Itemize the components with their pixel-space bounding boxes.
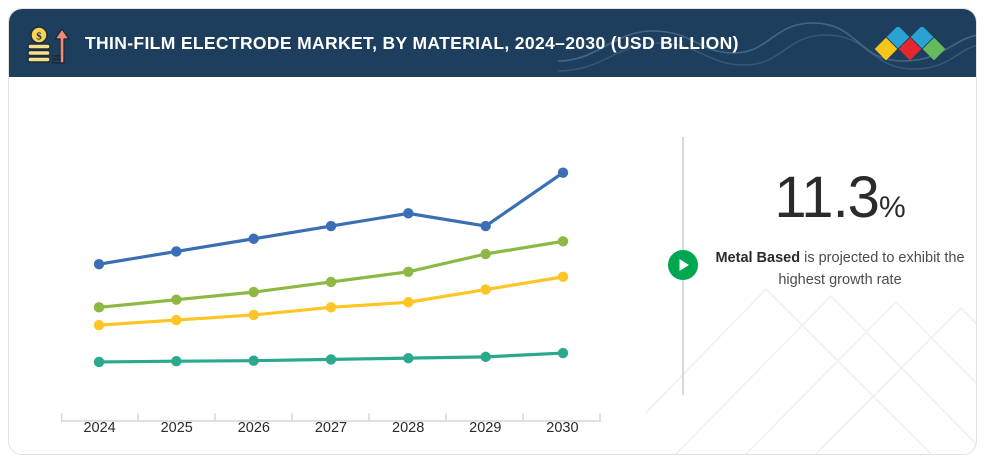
insight-panel: 11.3% Metal Based is projected to exhibi… [711,169,969,292]
plot-area [61,119,601,389]
data-point[interactable] [326,302,336,312]
data-point[interactable] [558,348,568,358]
data-point[interactable] [94,320,104,330]
growth-rate-number: 11.3 [774,165,879,230]
data-point[interactable] [480,249,490,259]
data-point[interactable] [248,355,258,365]
growth-rate-value: 11.3% [711,169,969,227]
data-point[interactable] [480,352,490,362]
coin-stack-growth-arrow-icon: $ [26,25,70,65]
diamond-cluster-logo [874,27,956,63]
data-point[interactable] [171,356,181,366]
play-triangle-icon [668,250,698,280]
svg-text:$: $ [36,31,42,43]
line-chart: 2024 2025 2026 2027 2028 2029 2030 Metal… [9,77,657,455]
data-point[interactable] [248,234,258,244]
data-point[interactable] [403,353,413,363]
data-point[interactable] [171,315,181,325]
data-point[interactable] [171,295,181,305]
x-axis-labels: 2024 2025 2026 2027 2028 2029 2030 [61,420,601,446]
x-tick-label: 2027 [292,420,369,446]
data-point[interactable] [326,354,336,364]
x-tick-label: 2026 [215,420,292,446]
insight-highlight: Metal Based [715,250,800,266]
x-tick-label: 2028 [370,420,447,446]
chart-card: $ THIN-FILM ELECTRODE MARKET, BY MATERIA… [8,8,977,455]
data-point[interactable] [248,287,258,297]
insight-caption: Metal Based is projected to exhibit the … [711,247,969,292]
data-point[interactable] [171,246,181,256]
data-point[interactable] [94,302,104,312]
x-tick-label: 2025 [138,420,215,446]
data-point[interactable] [480,284,490,294]
data-point[interactable] [558,168,568,178]
data-point[interactable] [480,221,490,231]
data-point[interactable] [403,297,413,307]
x-tick-label: 2024 [61,420,138,446]
card-header: $ THIN-FILM ELECTRODE MARKET, BY MATERIA… [9,9,977,77]
series-layer [61,119,601,389]
page-title: THIN-FILM ELECTRODE MARKET, BY MATERIAL,… [85,9,739,77]
data-point[interactable] [248,310,258,320]
percent-symbol: % [879,191,906,224]
insight-caption-rest: is projected to exhibit the highest grow… [778,250,964,288]
data-point[interactable] [403,267,413,277]
data-point[interactable] [326,277,336,287]
data-point[interactable] [403,208,413,218]
data-point[interactable] [94,259,104,269]
x-tick-label: 2030 [524,420,601,446]
data-point[interactable] [94,357,104,367]
data-point[interactable] [558,272,568,282]
data-point[interactable] [558,236,568,246]
x-tick-label: 2029 [447,420,524,446]
series-line [99,173,563,264]
data-point[interactable] [326,221,336,231]
play-circle-icon[interactable] [668,250,698,280]
